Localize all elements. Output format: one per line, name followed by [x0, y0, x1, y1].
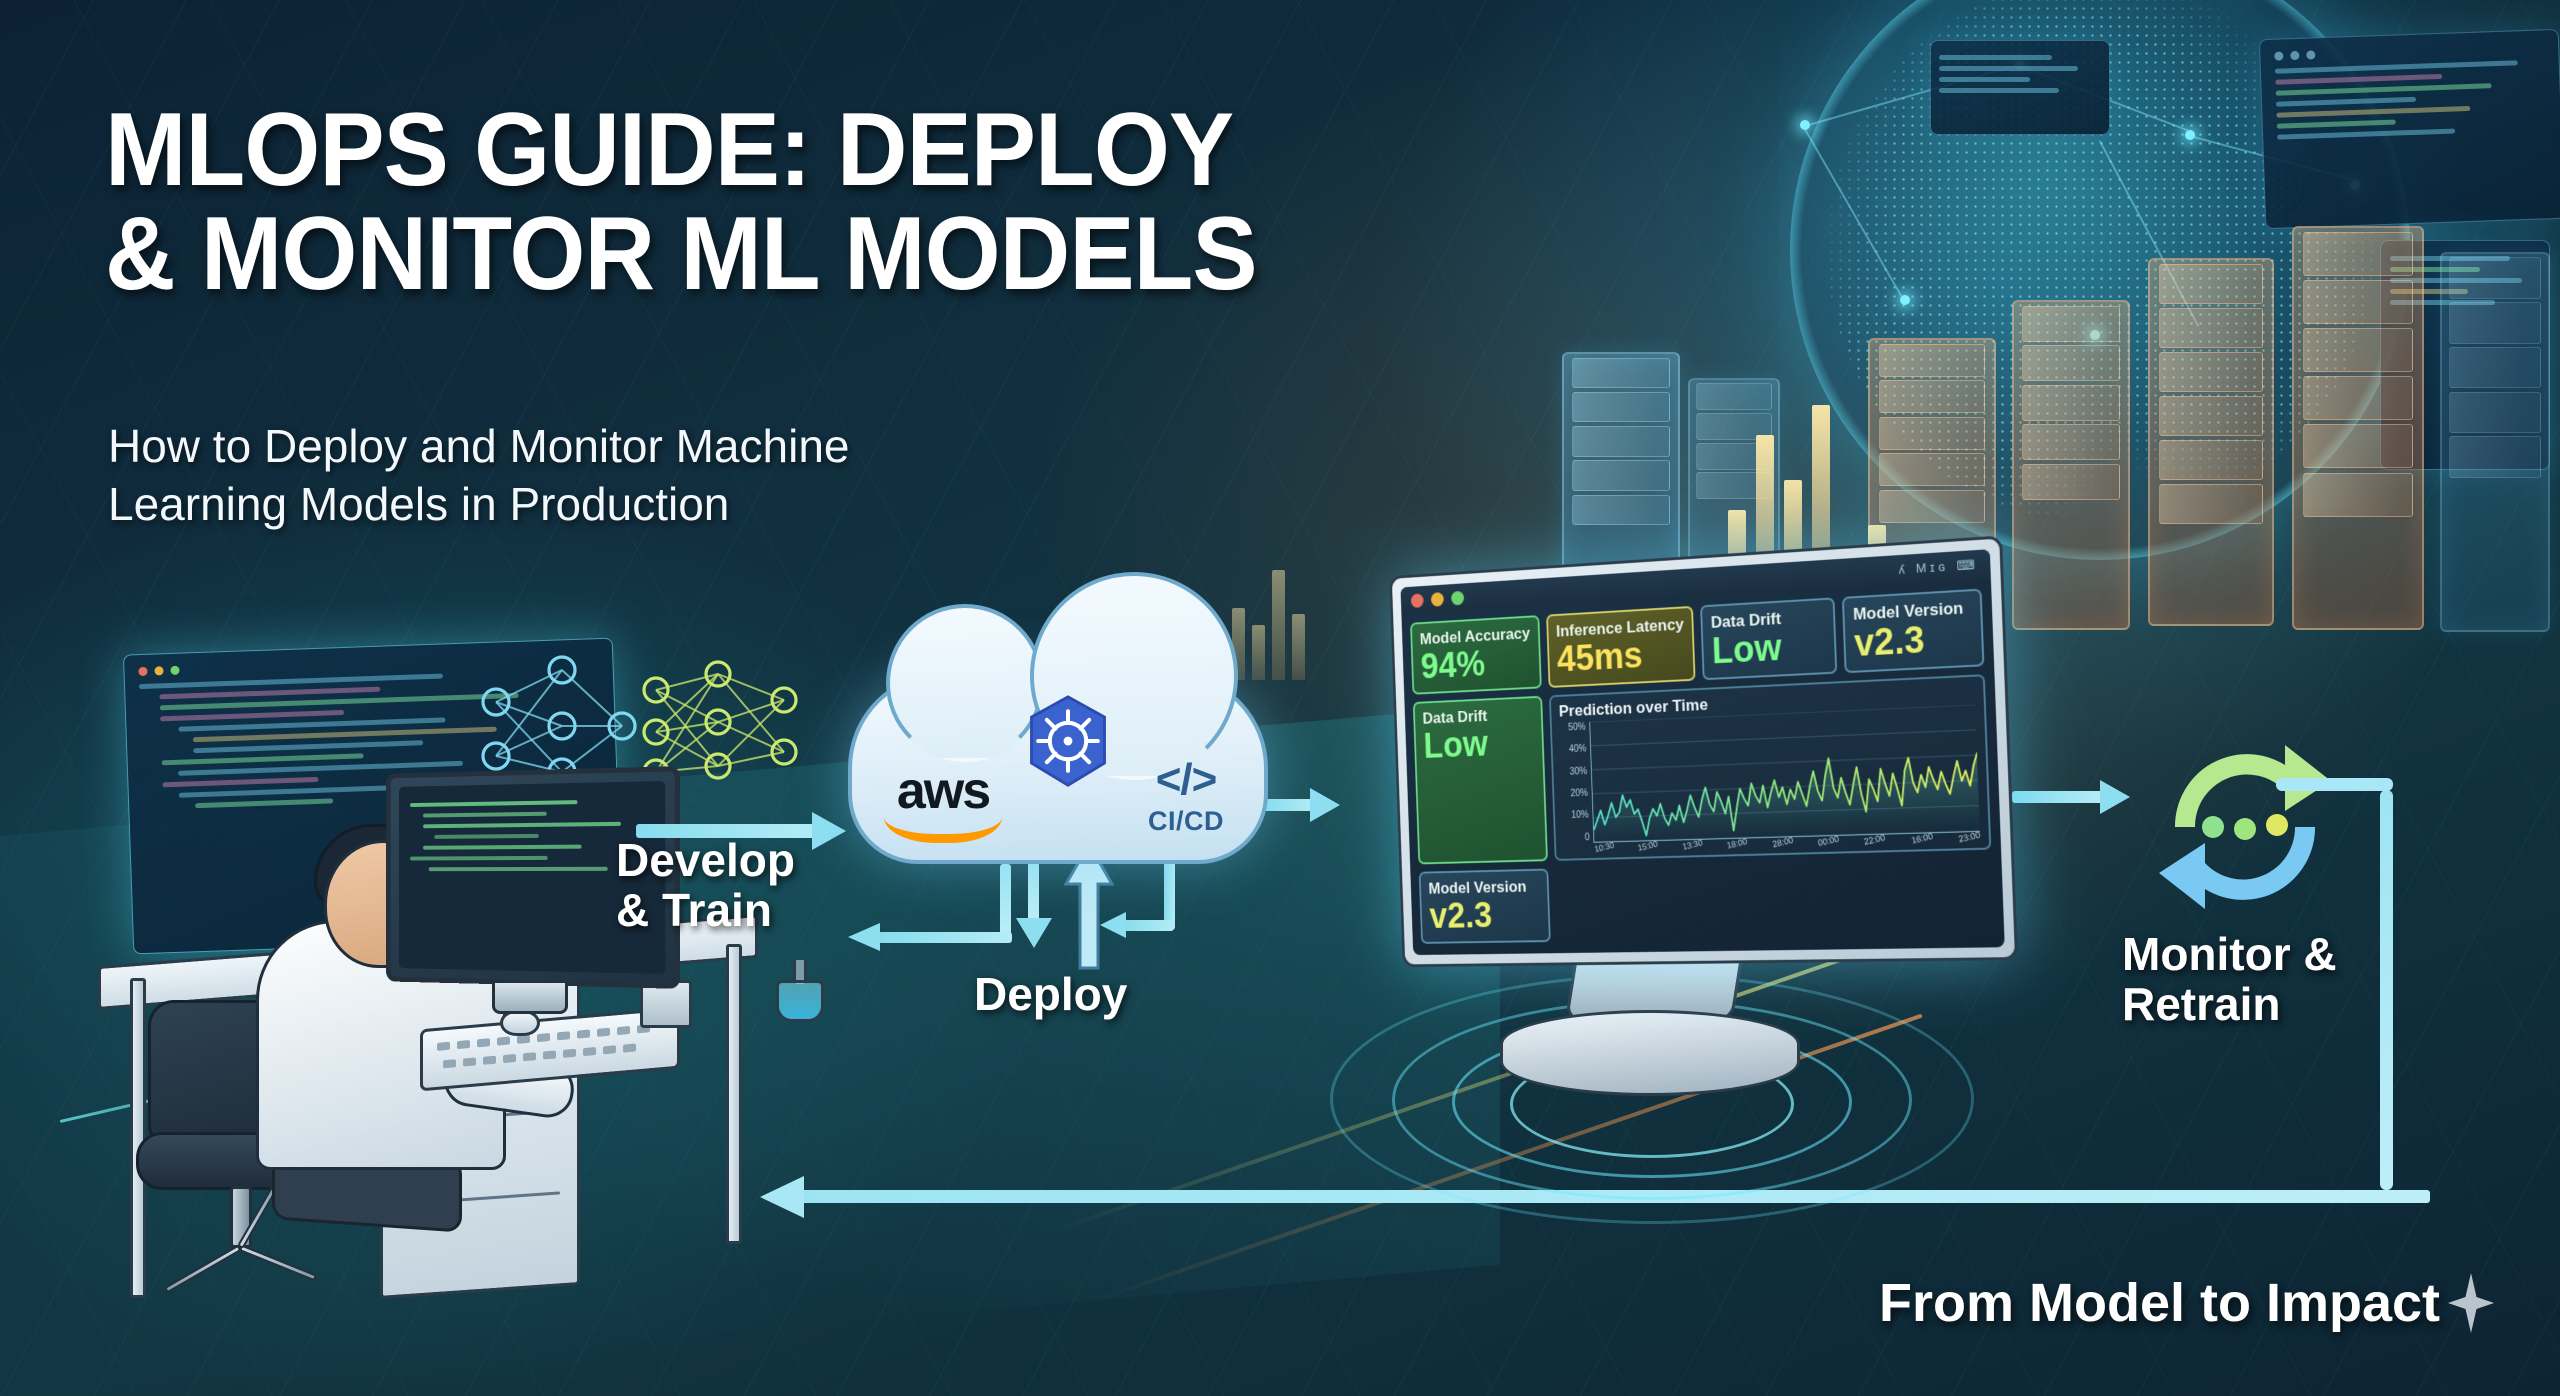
tagline-text: From Model to Impact	[1879, 1272, 2440, 1334]
prediction-line-svg	[1590, 704, 1980, 841]
kpi-card-model-version-secondary[interactable]: Model Version v2.3	[1419, 868, 1551, 943]
infographic-canvas: Develop & Train Deploy	[0, 0, 2560, 1396]
window-minimize-dot[interactable]	[1431, 592, 1444, 607]
kpi-value: 94%	[1420, 644, 1532, 686]
monitor-stand-base	[1500, 1010, 1800, 1096]
dashboard-screen: ʎ Mɪɢ ⌨ Model Accuracy 94% Inference Lat…	[1400, 549, 2004, 955]
y-tick: 30%	[1561, 766, 1588, 777]
aws-wordmark: aws	[884, 768, 1002, 815]
prediction-over-time-chart[interactable]: Prediction over Time 50% 40% 30% 20% 10%…	[1549, 674, 1992, 861]
sparkle-icon	[2448, 1273, 2494, 1333]
page-subtitle: How to Deploy and Monitor Machine Learni…	[108, 418, 888, 533]
kpi-card-model-version[interactable]: Model Version v2.3	[1842, 589, 1984, 673]
kpi-card-data-drift-secondary[interactable]: Data Drift Low	[1413, 696, 1548, 865]
retrain-loop-icon	[2135, 715, 2355, 935]
code-panel-globe	[1930, 40, 2110, 135]
server-rack	[2440, 252, 2550, 632]
cloud-platform-icon: aws </> CI/CD	[848, 672, 1268, 864]
chart-plot-area	[1589, 704, 1980, 842]
cicd-label: CI/CD	[1148, 806, 1224, 837]
label-monitor-retrain: Monitor & Retrain	[2122, 930, 2337, 1029]
kubernetes-icon	[1020, 694, 1116, 790]
kpi-grid: Model Accuracy 94% Inference Latency 45m…	[1401, 579, 2004, 952]
tagline: From Model to Impact	[1879, 1272, 2494, 1334]
y-tick: 40%	[1560, 744, 1587, 755]
chart-y-axis: 50% 40% 30% 20% 10% 0	[1559, 722, 1593, 844]
server-rack	[2012, 300, 2130, 630]
kpi-label: Model Version	[1428, 877, 1539, 898]
aws-smile-icon	[884, 817, 1002, 843]
dashboard-monitor: ʎ Mɪɢ ⌨ Model Accuracy 94% Inference Lat…	[1389, 535, 2018, 967]
kpi-card-data-drift[interactable]: Data Drift Low	[1700, 597, 1837, 680]
feedback-riser	[2380, 790, 2393, 1190]
window-dots	[2274, 42, 2544, 60]
desk-monitor-stand	[492, 980, 568, 1014]
flask-icon	[776, 960, 824, 1022]
kpi-card-inference-latency[interactable]: Inference Latency 45ms	[1546, 606, 1696, 688]
y-tick: 10%	[1562, 810, 1589, 821]
code-brackets-icon: </>	[1148, 758, 1224, 802]
y-tick: 0	[1563, 832, 1590, 843]
kpi-card-model-accuracy[interactable]: Model Accuracy 94%	[1410, 615, 1541, 694]
cicd-badge: </> CI/CD	[1148, 758, 1224, 837]
desk-leg	[726, 944, 742, 1244]
window-close-dot[interactable]	[1411, 593, 1424, 608]
label-deploy: Deploy	[974, 970, 1127, 1020]
server-rack	[2292, 226, 2424, 630]
kpi-value: 45ms	[1556, 635, 1685, 679]
server-rack	[2148, 258, 2274, 626]
feedback-elbow	[2276, 778, 2393, 791]
kpi-value: Low	[1711, 627, 1826, 671]
kpi-value: v2.3	[1429, 897, 1541, 935]
window-maximize-dot[interactable]	[1451, 590, 1464, 605]
status-icons: ʎ Mɪɢ ⌨	[1898, 557, 1979, 578]
y-tick: 20%	[1562, 788, 1589, 799]
kpi-value: Low	[1423, 724, 1535, 765]
page-title: MLOps Guide: Deploy & Monitor ML Models	[105, 98, 1280, 306]
kpi-value: v2.3	[1853, 619, 1973, 664]
aws-logo: aws	[884, 768, 1002, 843]
code-panel-topright	[2259, 29, 2560, 229]
label-develop-train: Develop & Train	[616, 836, 795, 935]
y-tick: 50%	[1559, 722, 1586, 734]
